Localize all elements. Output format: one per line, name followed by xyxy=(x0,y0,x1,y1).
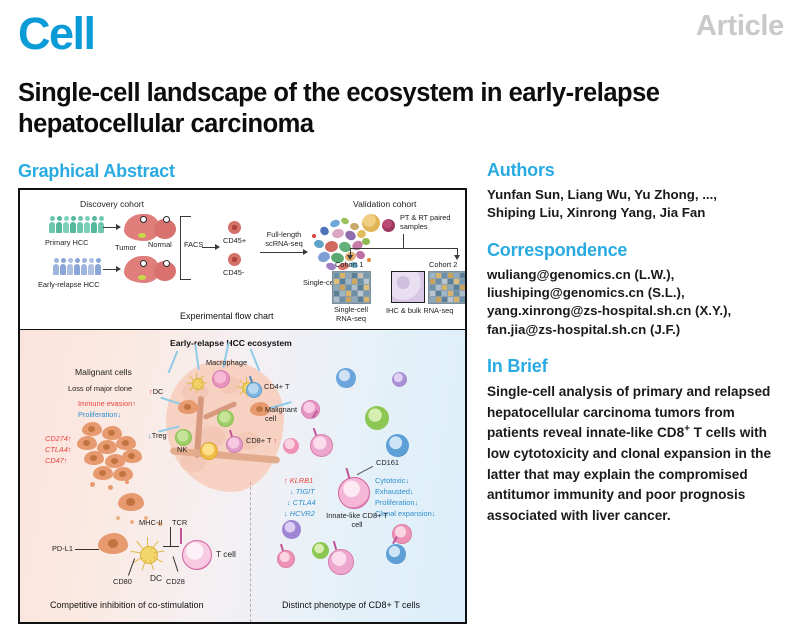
free-cell xyxy=(283,438,299,454)
split-stem xyxy=(403,234,404,248)
loss-major-clone-label: Loss of major clone xyxy=(68,384,132,393)
free-cell xyxy=(336,368,356,388)
tumor-cell-icon xyxy=(98,533,128,554)
macrophage-label: Macrophage xyxy=(206,358,247,367)
nk-label: NK xyxy=(177,445,187,454)
primary-hcc-label: Primary HCC xyxy=(45,238,89,247)
tumor-label: Tumor xyxy=(115,243,136,252)
correspondence-email[interactable]: fan.jia@zs-hospital.sh.cn (J.F.) xyxy=(487,321,787,339)
authors-heading: Authors xyxy=(487,160,787,181)
free-cell xyxy=(392,372,407,387)
in-brief-text: Single-cell analysis of primary and rela… xyxy=(487,382,787,527)
nk-cell-icon xyxy=(200,442,218,460)
mhc-ii-label: MHC-II xyxy=(139,518,162,527)
discovery-cohort-title: Discovery cohort xyxy=(80,199,144,209)
correspondence-email[interactable]: yang.xinrong@zs-hospital.sh.cn (X.Y.), xyxy=(487,302,787,320)
cd80-label: CD80 xyxy=(113,577,132,586)
early-relapse-hcc-crowd-icon xyxy=(53,258,101,275)
correspondence-email[interactable]: liushiping@genomics.cn (S.L.), xyxy=(487,284,787,302)
tumor-marker-dot xyxy=(140,260,147,267)
t-cell-label: T cell xyxy=(216,549,236,559)
cd161-leader-line xyxy=(357,466,373,475)
cd28-leader-line xyxy=(173,556,179,572)
secreted-particle xyxy=(130,520,134,524)
malignant-cell-label: Malignant cell xyxy=(265,406,305,423)
pt-sample-icon xyxy=(362,214,380,232)
innate-like-cd8-t-cell-label: Innate-like CD8+ T cell xyxy=(326,512,388,530)
authors-line-2: Shiping Liu, Xinrong Yang, Jia Fan xyxy=(487,204,787,222)
dendritic-cell-icon xyxy=(188,374,206,392)
malignant-cell-icon xyxy=(178,400,198,414)
pd-l1-label: PD-L1 xyxy=(52,544,73,553)
right-column: Authors Yunfan Sun, Liang Wu, Yu Zhong, … xyxy=(487,160,787,527)
correspondence-heading: Correspondence xyxy=(487,240,787,261)
gene-tigit: ↓ TIGIT xyxy=(290,487,315,496)
gene-cd274: CD274↑ xyxy=(45,434,72,443)
vessel-branch xyxy=(168,350,179,373)
mhcii-leader-line xyxy=(170,527,171,547)
flow-arrow-line xyxy=(103,269,117,270)
scrnaseq-assay-label: Full-length scRNA-seq xyxy=(261,231,307,248)
cell-journal-logo: Cell xyxy=(18,11,95,56)
cohort-1-label: Cohort 1 xyxy=(335,260,363,269)
cd45-negative-label: CD45- xyxy=(223,268,244,277)
authors-line-1: Yunfan Sun, Liang Wu, Yu Zhong, ..., xyxy=(487,186,787,204)
flow-arrow-head xyxy=(116,266,121,272)
normal-label: Normal xyxy=(148,240,172,249)
paired-samples-label: PT & RT paired samples xyxy=(400,214,460,231)
ecosystem-title: Early-relapse HCC ecosystem xyxy=(170,338,292,348)
masthead: Cell Article xyxy=(0,0,800,72)
flow-arrow-head xyxy=(116,224,121,230)
phenotype-proliferation: Proliferation↓ xyxy=(375,498,418,507)
facs-arrow-head xyxy=(215,244,220,250)
proliferation-trait: Proliferation↓ xyxy=(78,410,121,419)
flow-arrow-line xyxy=(103,227,117,228)
cd161-label: CD161 xyxy=(376,458,399,467)
free-cell xyxy=(312,542,329,559)
tcr-label: TCR xyxy=(172,518,187,527)
flow-chart-caption: Experimental flow chart xyxy=(180,311,274,321)
early-relapse-hcc-label: Early-relapse HCC xyxy=(38,280,100,289)
mhcii-bar xyxy=(163,546,179,547)
validation-cohort-title: Validation cohort xyxy=(353,199,416,209)
panel-dashed-divider xyxy=(250,482,251,622)
malignant-cells-heading: Malignant cells xyxy=(75,367,132,377)
treg-cell-icon xyxy=(217,410,234,427)
free-cell xyxy=(386,434,409,457)
cd4-t-label: CD4+ T xyxy=(264,382,290,391)
ecosystem-panel: Early-relapse HCC ecosystem Malignant ce… xyxy=(20,330,465,622)
cohort-2-label: Cohort 2 xyxy=(429,260,457,269)
assay-arrow-line xyxy=(260,252,304,253)
normal-marker-dot xyxy=(163,260,170,267)
dc-label: ↑DC xyxy=(149,387,163,396)
pdl1-leader-line xyxy=(75,549,99,550)
phenotype-panel-caption: Distinct phenotype of CD8+ T cells xyxy=(282,600,420,610)
in-brief-heading: In Brief xyxy=(487,356,787,377)
authors-list: Yunfan Sun, Liang Wu, Yu Zhong, ..., Shi… xyxy=(487,186,787,223)
graphical-abstract-figure: Discovery cohort Validation cohort Prima… xyxy=(18,188,467,624)
facs-arrow-line xyxy=(202,247,216,248)
article-type-kicker: Article xyxy=(696,10,784,43)
graphical-abstract-heading: Graphical Abstract xyxy=(18,161,175,182)
tumor-cell-icon xyxy=(118,493,144,511)
dendritic-cell-icon xyxy=(133,539,163,569)
phenotype-exhausted: Exhausted↓ xyxy=(375,487,414,496)
costim-panel-caption: Competitive inhibition of co-stimulation xyxy=(50,600,204,610)
free-cell xyxy=(365,406,389,430)
cd8-t-label: CD8+ T ↑ xyxy=(246,436,277,445)
cd28-label: CD28 xyxy=(166,577,185,586)
correspondence-list: wuliang@genomics.cn (L.W.), liushiping@g… xyxy=(487,266,787,339)
cohort-1-assay-label: Single-cell RNA-seq xyxy=(325,306,377,323)
treg-cell-icon xyxy=(175,429,192,446)
rt-sample-icon xyxy=(382,219,395,232)
ihc-image-icon xyxy=(391,271,425,303)
secreted-particle xyxy=(116,516,120,520)
split-bar xyxy=(350,248,458,249)
free-cell xyxy=(386,544,406,564)
phenotype-cytotoxic: Cytotoxic↓ xyxy=(375,476,409,485)
primary-hcc-crowd-icon xyxy=(49,216,104,233)
cd45-pos-cell-icon xyxy=(228,221,241,234)
treg-label: ↓Treg xyxy=(148,431,167,440)
gene-klrb1: ↑ KLRB1 xyxy=(284,476,313,485)
normal-marker-dot xyxy=(163,216,170,223)
experimental-flow-chart-panel: Discovery cohort Validation cohort Prima… xyxy=(20,190,465,330)
cd45-positive-label: CD45+ xyxy=(223,236,246,245)
cd45-neg-cell-icon xyxy=(228,253,241,266)
cohort-2-heatmap-icon xyxy=(428,271,467,304)
gene-ctla4-innate: ↓ CTLA4 xyxy=(287,498,316,507)
tcr-receptor xyxy=(180,528,182,544)
gene-hcvr2: ↓ HCVR2 xyxy=(284,509,315,518)
t-cell-icon xyxy=(182,540,212,570)
cohort-2-assay-label: IHC & bulk RNA-seq xyxy=(386,306,453,315)
assay-arrow-head xyxy=(303,249,308,255)
gene-ctla4: CTLA4↑ xyxy=(45,445,72,454)
cohort-1-heatmap-icon xyxy=(332,271,371,304)
dc-panel-label: DC xyxy=(150,573,162,583)
free-cell xyxy=(282,520,301,539)
correspondence-email[interactable]: wuliang@genomics.cn (L.W.), xyxy=(487,266,787,284)
immune-evasion-trait: Immune evasion↑ xyxy=(78,399,136,408)
macrophage-icon xyxy=(212,370,230,388)
tumor-marker-dot xyxy=(140,216,147,223)
page-title: Single-cell landscape of the ecosystem i… xyxy=(18,78,778,140)
gene-cd47: CD47↑ xyxy=(45,456,68,465)
liver-relapse-icon xyxy=(124,254,176,284)
